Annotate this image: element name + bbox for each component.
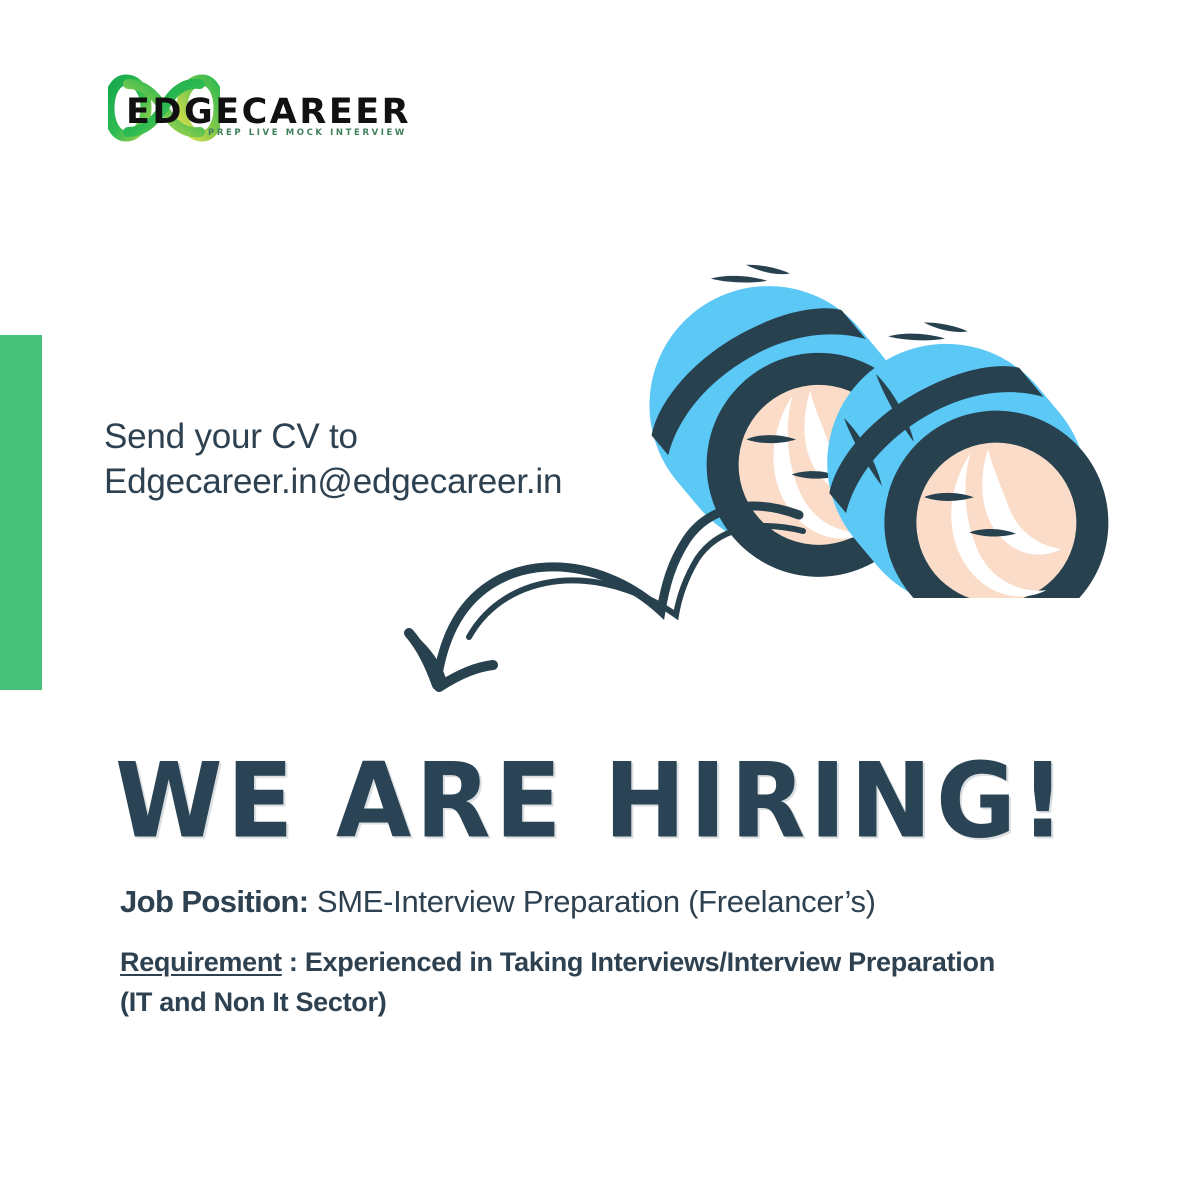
requirement-line: Requirement : Experienced in Taking Inte…	[120, 942, 1000, 1022]
contact-block: Send your CV to Edgecareer.in@edgecareer…	[104, 414, 724, 504]
contact-email[interactable]: Edgecareer.in@edgecareer.in	[104, 459, 724, 504]
job-position-value: SME-Interview Preparation (Freelancer’s)	[317, 884, 876, 919]
page-title: WE ARE HIRING!	[115, 748, 1069, 856]
logo-tagline: PREP LIVE MOCK INTERVIEW	[208, 128, 407, 138]
requirement-separator: :	[282, 947, 305, 977]
requirement-value-1: Experienced in Taking Interviews/Intervi…	[305, 947, 841, 977]
hiring-poster: EDGECAREER PREP LIVE MOCK INTERVIEW	[0, 0, 1200, 1200]
logo-wordmark: EDGECAREER	[126, 92, 411, 132]
green-accent-bar	[0, 335, 42, 690]
job-position-line: Job Position: SME-Interview Preparation …	[120, 882, 876, 922]
contact-line-1: Send your CV to	[104, 414, 724, 459]
brand-logo: EDGECAREER PREP LIVE MOCK INTERVIEW	[108, 72, 408, 150]
job-position-label: Job Position:	[120, 884, 309, 919]
requirement-label: Requirement	[120, 947, 282, 977]
curved-arrow-icon	[395, 475, 815, 700]
